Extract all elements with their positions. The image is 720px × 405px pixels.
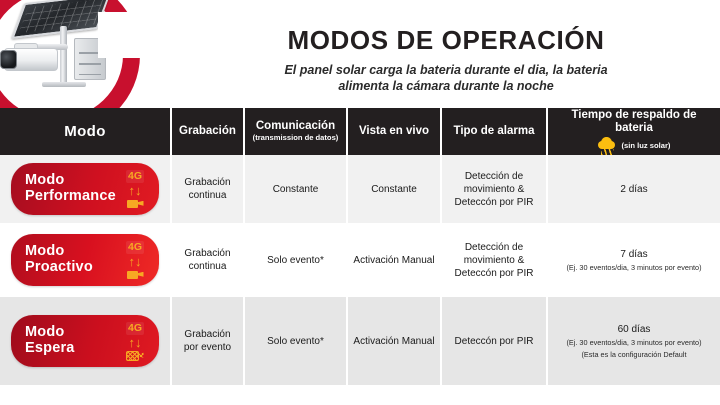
pole-icon: [60, 26, 67, 84]
tipo-de-alarma-cell: Detección de movimiento & Deteccón por P…: [442, 223, 548, 297]
camera-lens-icon: [0, 50, 17, 69]
table-row: ModoEspera 4G ↑↓ Grabación por evento So…: [0, 297, 720, 385]
base-plate-icon: [42, 82, 86, 87]
mode-cell: ModoEspera 4G ↑↓: [0, 297, 172, 385]
title-block: MODOS DE OPERACIÓN El panel solar carga …: [172, 26, 720, 95]
subtitle-line-1: El panel solar carga la bateria durante …: [284, 63, 607, 77]
data-updown-arrows-icon: ↑↓: [129, 255, 142, 268]
table-row: ModoProactivo 4G ↑↓ Grabación continua S…: [0, 223, 720, 297]
respaldo-note: (Ej. 30 eventos/dia, 3 minutos por event…: [566, 263, 701, 272]
network-4g-label: 4G: [126, 241, 144, 254]
network-4g-label: 4G: [126, 170, 144, 183]
network-camera-status-icon: 4G ↑↓: [121, 322, 149, 360]
page-subtitle: El panel solar carga la bateria durante …: [172, 62, 720, 95]
header-band: MODOS DE OPERACIÓN El panel solar carga …: [0, 0, 720, 108]
column-header-modo: Modo: [0, 108, 172, 155]
vista-en-vivo-cell: Constante: [348, 155, 442, 223]
grabacion-cell: Grabación continua: [172, 155, 245, 223]
table-header-row: Modo Grabación Comunicación (transmissio…: [0, 108, 720, 155]
network-camera-status-icon: 4G ↑↓: [121, 241, 149, 279]
page-title: MODOS DE OPERACIÓN: [172, 26, 720, 55]
respaldo-note-default: (Esta es la configuración Default: [581, 350, 686, 359]
mode-badge-proactivo[interactable]: ModoProactivo 4G ↑↓: [11, 234, 159, 286]
column-header-grabacion: Grabación: [172, 108, 245, 155]
column-header-comunicacion: Comunicación (transmission de datos): [245, 108, 348, 155]
vista-en-vivo-cell: Activación Manual: [348, 297, 442, 385]
column-header-tipo-de-alarma: Tipo de alarma: [442, 108, 548, 155]
network-4g-label: 4G: [126, 322, 144, 335]
comunicacion-cell: Solo evento*: [245, 297, 348, 385]
tipo-de-alarma-cell: Deteccón por PIR: [442, 297, 548, 385]
modes-table: Modo Grabación Comunicación (transmissio…: [0, 108, 720, 385]
camera-active-icon: [127, 269, 144, 279]
column-header-vista-en-vivo: Vista en vivo: [348, 108, 442, 155]
data-updown-arrows-icon: ↑↓: [129, 184, 142, 197]
camera-standby-icon: [127, 350, 144, 360]
respaldo-value: 2 días: [620, 183, 647, 196]
mode-badge-espera[interactable]: ModoEspera 4G ↑↓: [11, 315, 159, 367]
comunicacion-cell: Constante: [245, 155, 348, 223]
network-camera-status-icon: 4G ↑↓: [121, 170, 149, 208]
grabacion-cell: Grabación continua: [172, 223, 245, 297]
mode-cell: ModoPerformance 4G ↑↓: [0, 155, 172, 223]
respaldo-note: (Ej. 30 eventos/dia, 3 minutos por event…: [566, 338, 701, 347]
tiempo-respaldo-cell: 7 días (Ej. 30 eventos/dia, 3 minutos po…: [548, 223, 720, 297]
camera-active-icon: [127, 198, 144, 208]
sun-cloud-rain-icon: [598, 137, 617, 154]
operation-modes-infographic: MODOS DE OPERACIÓN El panel solar carga …: [0, 0, 720, 405]
comunicacion-cell: Solo evento*: [245, 223, 348, 297]
mode-badge-performance[interactable]: ModoPerformance 4G ↑↓: [11, 163, 159, 215]
tiempo-respaldo-cell: 60 días (Ej. 30 eventos/dia, 3 minutos p…: [548, 297, 720, 385]
column-header-tiempo-respaldo: Tiempo de respaldo de bateria (sin luz s…: [548, 108, 720, 155]
tiempo-respaldo-cell: 2 días: [548, 155, 720, 223]
tipo-de-alarma-cell: Detección de movimiento & Deteccón por P…: [442, 155, 548, 223]
subtitle-line-2: alimenta la cámara durante la noche: [338, 79, 553, 93]
mode-badge-label: ModoPerformance: [25, 173, 116, 204]
ring-gap: [98, 12, 144, 58]
table-row: ModoPerformance 4G ↑↓ Grabación continua…: [0, 155, 720, 223]
respaldo-value: 7 días: [620, 248, 647, 261]
mode-cell: ModoProactivo 4G ↑↓: [0, 223, 172, 297]
grabacion-cell: Grabación por evento: [172, 297, 245, 385]
respaldo-value: 60 días: [618, 323, 651, 336]
mode-badge-label: ModoEspera: [25, 325, 75, 356]
vista-en-vivo-cell: Activación Manual: [348, 223, 442, 297]
data-updown-arrows-icon: ↑↓: [129, 336, 142, 349]
mode-badge-label: ModoProactivo: [25, 244, 93, 275]
